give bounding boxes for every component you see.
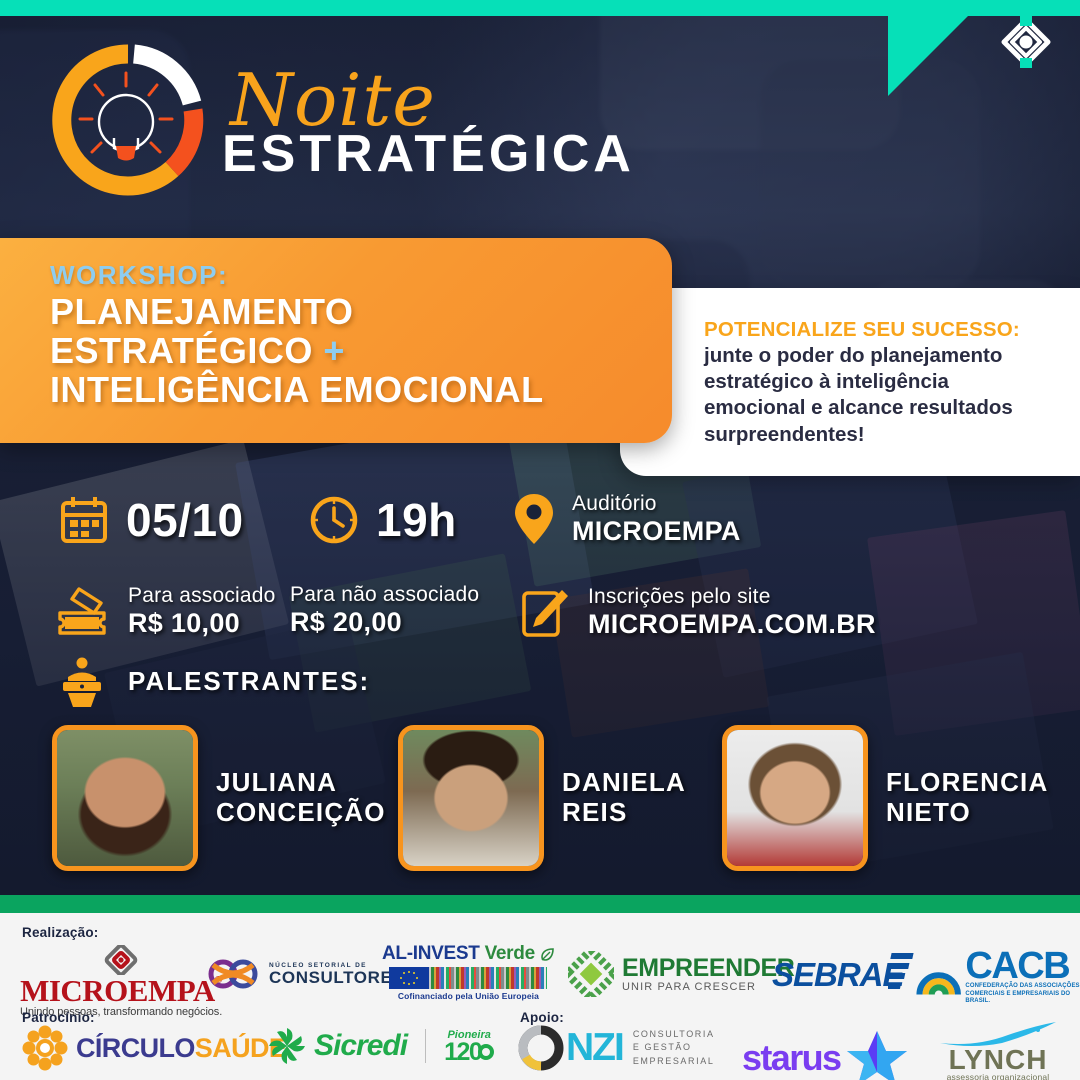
speaker-photo-juliana <box>52 725 198 871</box>
workshop-line-1: PLANEJAMENTO <box>50 293 672 332</box>
workshop-line-3: INTELIGÊNCIA EMOCIONAL <box>50 371 672 410</box>
alinvest-name2: Verde <box>485 943 535 964</box>
empreender-name: EMPREENDER <box>622 956 794 981</box>
empreender-sub: UNIR PARA CRESCER <box>622 981 794 993</box>
location-label: Auditório <box>572 492 741 516</box>
cacb-arch-icon <box>916 953 961 1001</box>
price-nonmember-value: R$ 20,00 <box>290 607 479 638</box>
price-member-label: Para associado <box>128 584 276 608</box>
circulosaude-flower-icon <box>22 1025 68 1071</box>
realizacao-label: Realização: <box>22 925 98 940</box>
sicredi-anos-ring-icon <box>478 1044 494 1060</box>
brand-name-script: Noite <box>230 66 635 134</box>
workshop-title-panel: WORKSHOP: PLANEJAMENTO ESTRATÉGICO + INT… <box>0 238 672 443</box>
pencil-form-icon <box>520 587 570 639</box>
info-date: 05/10 <box>58 493 244 547</box>
star-icon <box>846 1029 908 1080</box>
brand-name-bold: ESTRATÉGICA <box>222 128 635 180</box>
info-location: Auditório MICROEMPA <box>512 491 741 547</box>
price-member-value: R$ 10,00 <box>128 608 276 639</box>
price-nonmember-label: Para não associado <box>290 583 479 607</box>
cacb-name: CACB <box>965 949 1080 983</box>
alinvest-name1: AL-INVEST <box>382 943 480 964</box>
circulosaude-name1: CÍRCULO <box>76 1033 195 1063</box>
cacb-sub2: COMERCIAIS E EMPRESARIAIS DO BRASIL. <box>965 991 1080 1006</box>
event-poster: Noite ESTRATÉGICA WORKSHOP: PLANEJAMENTO… <box>0 0 1080 1080</box>
speaker-card-2: DANIELA REIS <box>398 725 686 871</box>
calendar-icon <box>58 494 110 546</box>
speaker-2-last: REIS <box>562 798 686 828</box>
event-info-block: 05/10 19h <box>0 443 1080 895</box>
ticket-icon <box>56 583 112 639</box>
microempa-diamond-icon <box>101 945 141 975</box>
empreender-diamond-icon <box>568 951 614 997</box>
sicredi-name: Sicredi <box>314 1029 407 1063</box>
logo-alinvest: AL-INVEST Verde Cofinanciado pela União … <box>382 943 555 1001</box>
workshop-line-2: ESTRATÉGICO <box>50 330 313 371</box>
sebrae-name: SEBRAE <box>772 956 904 994</box>
logo-starus: starus <box>742 1029 908 1080</box>
starus-name: starus <box>742 1037 840 1079</box>
speaker-card-1: JULIANA CONCEIÇÃO <box>52 725 386 871</box>
speaker-photo-daniela <box>398 725 544 871</box>
lynch-name: LYNCH <box>949 1047 1048 1072</box>
sicredi-pinwheel-icon <box>268 1027 306 1065</box>
logo-lynch: LYNCH assessoria organizacional <box>938 1021 1058 1080</box>
podium-speaker-icon <box>56 655 108 707</box>
leaf-icon <box>540 947 555 962</box>
speaker-1-last: CONCEIÇÃO <box>216 798 386 828</box>
signup-label: Inscrições pelo site <box>588 585 876 609</box>
logo-nzi: NZI CONSULTORIA E GESTÃO EMPRESARIAL <box>518 1025 715 1071</box>
logo-consultores: NÚCLEO SETORIAL DE CONSULTORES <box>205 951 404 997</box>
alinvest-eu-flag-bars <box>389 967 547 989</box>
clock-icon <box>308 494 360 546</box>
pitch-body: junte o poder do planejamento estratégic… <box>704 343 1054 448</box>
speaker-card-3: FLORENCIA NIETO <box>722 725 1048 871</box>
logo-cacb: CACB CONFEDERAÇÃO DAS ASSOCIAÇÕES COMERC… <box>916 949 1080 1006</box>
logo-empreender: EMPREENDER UNIR PARA CRESCER <box>568 951 794 997</box>
microempa-name: MICROEMPA <box>20 975 215 1006</box>
alinvest-sub: Cofinanciado pela União Europeia <box>398 991 539 1001</box>
info-price-member: Para associado R$ 10,00 <box>56 583 276 639</box>
sicredi-anos: 120 <box>444 1041 481 1064</box>
map-pin-icon <box>512 491 556 547</box>
nzi-sub1: CONSULTORIA <box>633 1028 715 1041</box>
nzi-ring-icon <box>518 1025 564 1071</box>
sponsor-footer: Realização: MICROEMPA ® Unindo pessoas, … <box>0 913 1080 1080</box>
pitch-headline: POTENCIALIZE SEU SUCESSO: <box>704 318 1054 342</box>
speaker-3-first: FLORENCIA <box>886 768 1048 798</box>
nzi-sub3: EMPRESARIAL <box>633 1055 715 1068</box>
nzi-name: NZI <box>566 1031 623 1064</box>
logo-sebrae: SEBRAE <box>772 951 914 999</box>
workshop-kicker: WORKSHOP: <box>50 260 672 291</box>
info-speakers-heading: PALESTRANTES: <box>56 655 370 707</box>
signup-url[interactable]: MICROEMPA.COM.BR <box>588 609 876 640</box>
event-time: 19h <box>376 493 457 547</box>
logo-sicredi: Sicredi Pioneira 120 <box>268 1027 494 1065</box>
info-time: 19h <box>308 493 457 547</box>
event-date: 05/10 <box>126 493 244 547</box>
logo-circulosaude: CÍRCULOSAÚDE <box>22 1025 286 1071</box>
speaker-1-first: JULIANA <box>216 768 386 798</box>
logo-microempa: MICROEMPA ® Unindo pessoas, transformand… <box>20 945 222 1018</box>
speaker-2-first: DANIELA <box>562 768 686 798</box>
lynch-sub: assessoria organizacional <box>947 1072 1050 1080</box>
speaker-photo-florencia <box>722 725 868 871</box>
nzi-sub2: E GESTÃO <box>633 1041 715 1054</box>
workshop-plus-sign: + <box>323 330 345 371</box>
apoio-label: Apoio: <box>520 1010 564 1025</box>
sebrae-bars-icon <box>888 951 914 999</box>
diamond-eye-icon <box>998 14 1054 75</box>
consultores-rings-icon <box>205 951 261 997</box>
green-divider-bar <box>0 895 1080 913</box>
patrocinio-label: Patrocínio: <box>22 1010 95 1025</box>
lightbulb-donut-icon <box>48 40 208 200</box>
info-signup[interactable]: Inscrições pelo site MICROEMPA.COM.BR <box>520 585 876 640</box>
location-value: MICROEMPA <box>572 516 741 547</box>
speaker-3-last: NIETO <box>886 798 1048 828</box>
sicredi-divider <box>425 1029 426 1063</box>
brand-lockup: Noite ESTRATÉGICA <box>48 40 635 200</box>
cacb-sub1: CONFEDERAÇÃO DAS ASSOCIAÇÕES <box>965 983 1080 991</box>
speakers-label: PALESTRANTES: <box>128 666 370 697</box>
info-price-nonmember: Para não associado R$ 20,00 <box>290 583 479 638</box>
